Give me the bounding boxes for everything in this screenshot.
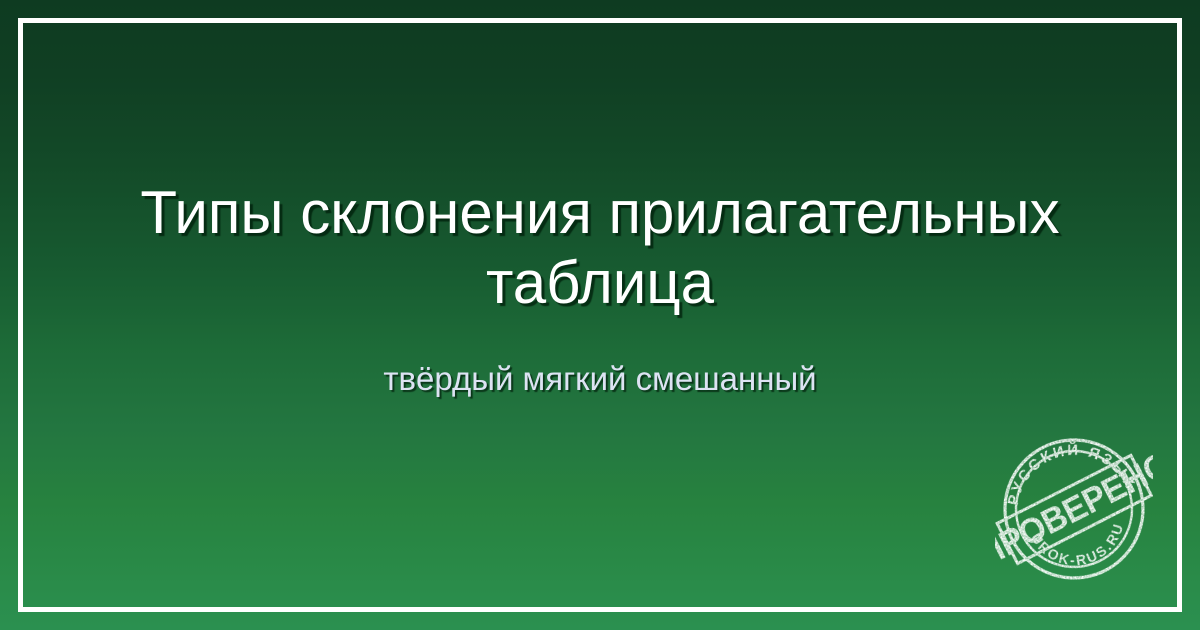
social-preview-card: Типы склонения прилагательных таблица тв… xyxy=(0,0,1200,630)
page-title: Типы склонения прилагательных таблица xyxy=(83,178,1117,318)
page-subtitle: твёрдый мягкий смешанный xyxy=(83,358,1117,400)
verified-stamp: РУССКИЙ ЯЗЫК UROK-RUS.RU ПРОВЕРЕНО xyxy=(995,430,1153,588)
